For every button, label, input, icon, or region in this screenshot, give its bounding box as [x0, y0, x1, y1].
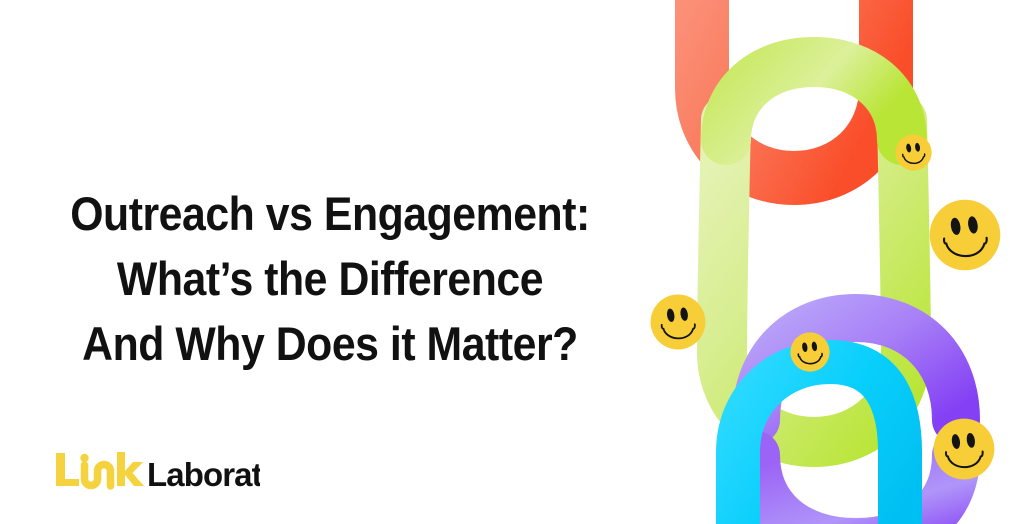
- smiley-face-green-icon: [895, 134, 932, 171]
- logo-word-laboratory: Laboratory: [147, 456, 260, 491]
- blog-banner: Outreach vs Engagement: What’s the Diffe…: [0, 0, 1024, 524]
- smiley-face-large-icon: [929, 199, 1001, 271]
- headline-line-2: What’s the Difference: [30, 246, 631, 311]
- site-logo[interactable]: Laboratory LinkLaboratory: [54, 449, 260, 491]
- headline-line-3: And Why Does it Matter?: [30, 311, 631, 376]
- headline-line-1: Outreach vs Engagement:: [30, 181, 631, 246]
- smiley-face-bottom-icon: [933, 418, 995, 480]
- smiley-face-purple-icon: [790, 332, 830, 372]
- smiley-face-title-icon: [650, 294, 706, 350]
- page-title: Outreach vs Engagement: What’s the Diffe…: [30, 181, 631, 376]
